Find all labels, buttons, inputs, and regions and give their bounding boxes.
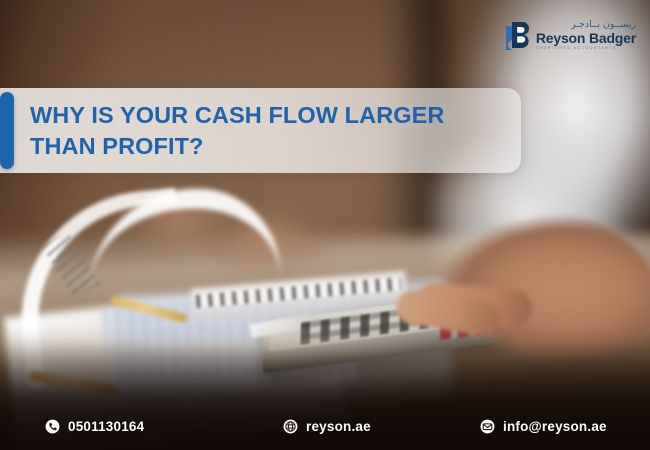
contact-phone-label: 0501130164 — [68, 419, 144, 434]
logo-tagline: CHARTERED ACCOUNTANTS — [536, 47, 636, 50]
contact-website-label: reyson.ae — [306, 419, 371, 434]
headline-band: WHY IS YOUR CASH FLOW LARGER THAN PROFIT… — [0, 88, 521, 173]
contact-website[interactable]: reyson.ae — [283, 419, 371, 434]
brand-logo[interactable]: ريســون بــادجـر Reyson Badger CHARTERED… — [504, 20, 636, 50]
marketing-banner: ريســون بــادجـر Reyson Badger CHARTERED… — [0, 0, 650, 450]
email-icon — [480, 419, 495, 434]
logo-arabic-name: ريســون بــادجـر — [536, 20, 636, 31]
headline-text: WHY IS YOUR CASH FLOW LARGER THAN PROFIT… — [30, 100, 507, 160]
logo-company-name: Reyson Badger — [536, 31, 636, 45]
globe-icon — [283, 419, 298, 434]
logo-b-mark-icon — [504, 21, 531, 50]
contact-phone[interactable]: 0501130164 — [45, 419, 144, 434]
background-photo — [0, 0, 650, 450]
footer-contact-strip: 0501130164 reyson.ae info@reyson.ae — [0, 412, 650, 440]
contact-email-label: info@reyson.ae — [503, 419, 607, 434]
headline-accent-bar — [0, 92, 14, 169]
logo-wordmark: ريســون بــادجـر Reyson Badger CHARTERED… — [536, 20, 636, 50]
phone-icon — [45, 419, 60, 434]
contact-email[interactable]: info@reyson.ae — [480, 419, 607, 434]
